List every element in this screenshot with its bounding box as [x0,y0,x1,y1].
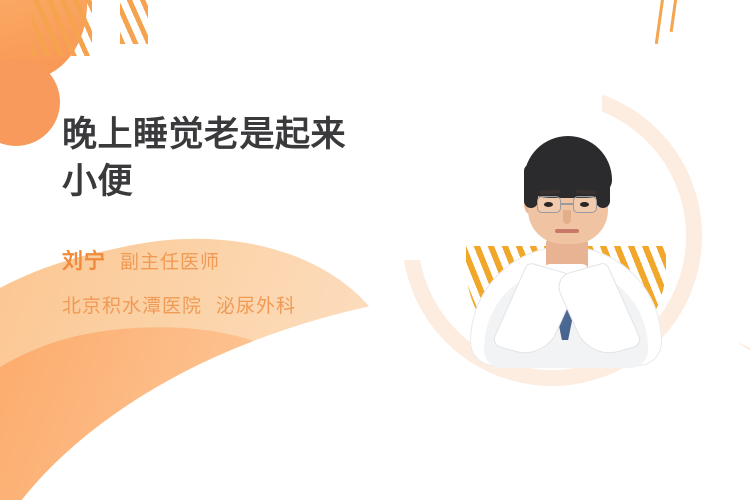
doctor-hospital: 北京积水潭医院 [62,291,202,318]
eye-right [580,202,589,207]
tick-line-top-right-b [670,0,678,32]
nose [563,210,571,224]
doctor-affiliation: 北京积水潭医院 泌尿外科 [62,291,452,318]
hatch-stripes-top-left-b [120,0,148,44]
headline-title: 晚上睡觉老是起来 小便 [62,112,452,205]
hatch-stripes-top-left-a [32,0,92,56]
tick-line-top-right-a [655,0,664,44]
doctor-portrait [466,98,666,368]
doctor-byline: 刘宁 副主任医师 [62,245,452,275]
glasses-bridge [561,203,573,205]
mouth [555,229,579,233]
eye-left [544,202,553,207]
doctor-name: 刘宁 [62,245,106,275]
doctor-topic-card: 晚上睡觉老是起来 小便 刘宁 副主任医师 北京积水潭医院 泌尿外科 [0,0,750,500]
text-block: 晚上睡觉老是起来 小便 刘宁 副主任医师 北京积水潭医院 泌尿外科 [62,112,452,318]
doctor-illustration [466,98,666,328]
hair-side-right [596,164,610,208]
doctor-title: 副主任医师 [120,247,220,274]
doctor-department: 泌尿外科 [216,291,296,318]
hair-side-left [524,164,538,208]
